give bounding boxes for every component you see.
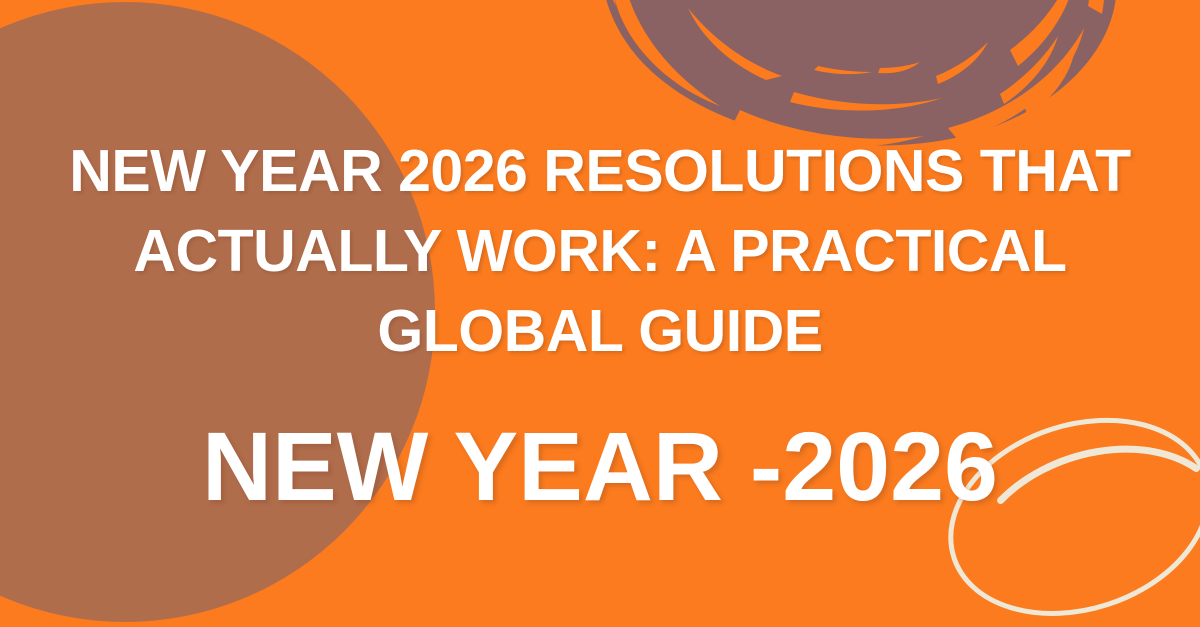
banner-headline: NEW YEAR 2026 RESOLUTIONS THAT ACTUALLY …: [0, 131, 1200, 371]
banner-content: NEW YEAR 2026 RESOLUTIONS THAT ACTUALLY …: [0, 0, 1200, 627]
headline-line-2: ACTUALLY WORK: A PRACTICAL: [22, 211, 1178, 291]
new-year-banner: NEW YEAR 2026 RESOLUTIONS THAT ACTUALLY …: [0, 0, 1200, 627]
banner-big-title: NEW YEAR -2026: [0, 412, 1200, 522]
headline-line-1: NEW YEAR 2026 RESOLUTIONS THAT: [22, 131, 1178, 211]
headline-line-3: GLOBAL GUIDE: [22, 291, 1178, 371]
